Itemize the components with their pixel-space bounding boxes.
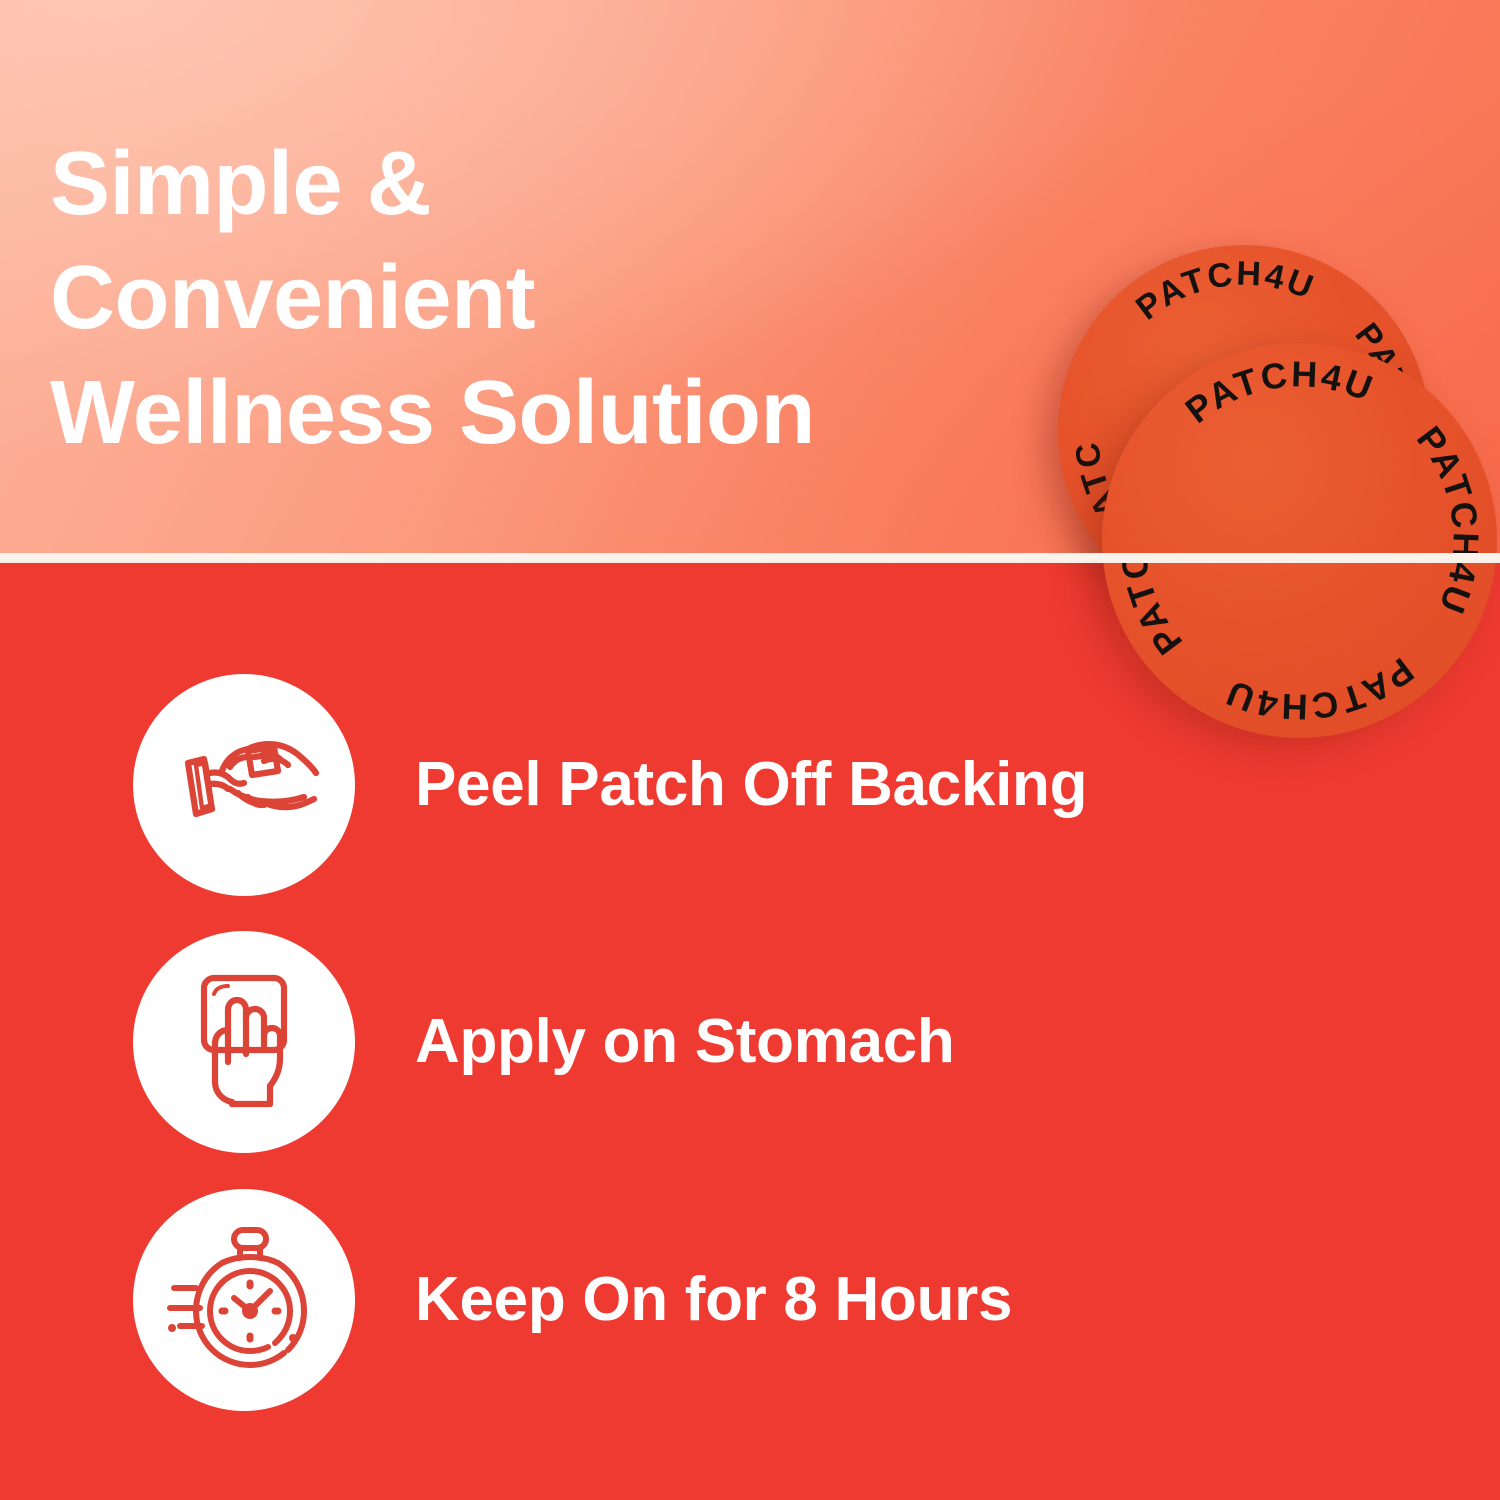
product-infographic: Simple & Convenient Wellness Solution PA…	[0, 0, 1500, 1500]
list-item: Keep On for 8 Hours	[133, 1189, 1463, 1411]
step-3-label: Keep On for 8 Hours	[415, 1267, 1012, 1332]
hand-pressing-patch-icon	[160, 958, 328, 1126]
step-3-icon-badge	[133, 1189, 355, 1411]
patch-front-text-4: PATCH4U	[1409, 419, 1487, 622]
step-2-icon-badge	[133, 931, 355, 1153]
hand-peeling-patch-icon	[160, 701, 328, 869]
patch-back-text-3: PATCH4U	[1129, 255, 1320, 328]
patch-front-text-1: PATCH4U	[1219, 650, 1422, 728]
patch-disc-front: PATCH4U PATCH4U PATCH4U PATCH4U	[1102, 343, 1497, 738]
list-item: Apply on Stomach	[133, 931, 1463, 1153]
patch-product-image: PATCH4U PATCH4U PATCH4U PATCH4U PA	[1040, 245, 1500, 705]
patch-front-text-3: PATCH4U	[1178, 353, 1381, 431]
step-1-icon-badge	[133, 674, 355, 896]
section-divider	[0, 553, 1500, 563]
page-title: Simple & Convenient Wellness Solution	[50, 127, 1060, 470]
patch-front-text-2: PATCH4U	[1102, 343, 1190, 662]
stopwatch-timer-icon	[160, 1216, 328, 1384]
step-1-label: Peel Patch Off Backing	[415, 752, 1087, 817]
step-2-label: Apply on Stomach	[415, 1009, 954, 1074]
